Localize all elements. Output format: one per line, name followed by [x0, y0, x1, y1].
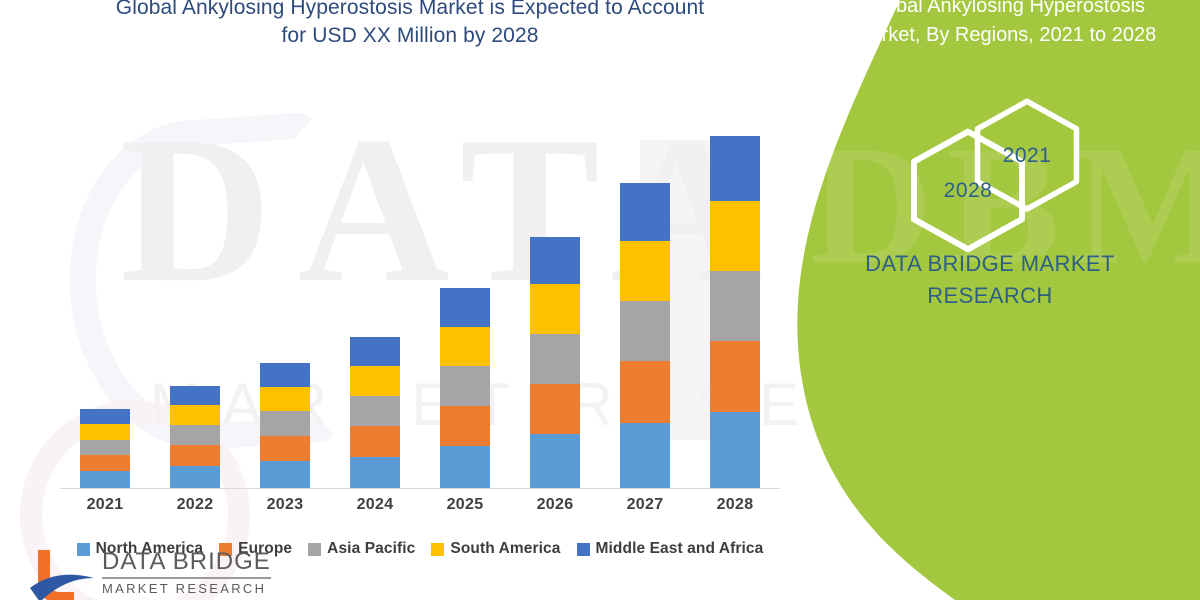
bar-segment[interactable] [170, 425, 220, 445]
legend-label: South America [450, 540, 560, 558]
hexagon-2021-label: 2021 [1003, 144, 1052, 168]
bar-segment[interactable] [260, 411, 310, 436]
bar-segment[interactable] [620, 241, 670, 301]
bar-stack[interactable] [350, 337, 400, 488]
bar-segment[interactable] [260, 436, 310, 461]
infographic-root: DATA MARKET RESEARCH Global Ankylosing H… [0, 0, 1200, 600]
bar-segment[interactable] [170, 466, 220, 488]
legend-item-middle-east-and-africa[interactable]: Middle East and Africa [577, 540, 764, 558]
bar-segment[interactable] [440, 366, 490, 406]
bar-segment[interactable] [170, 405, 220, 425]
panel-title-line-2: Market, By Regions, 2021 to 2028 [854, 24, 1156, 46]
bar-group [60, 120, 780, 488]
x-axis-line [60, 488, 780, 489]
bar-segment[interactable] [170, 386, 220, 405]
panel-title: Global Ankylosing Hyperostosis Market, B… [820, 0, 1190, 50]
bar-segment[interactable] [440, 327, 490, 366]
bar-segment[interactable] [440, 406, 490, 446]
x-axis-labels: 20212022202320242025202620272028 [60, 496, 780, 514]
bar-segment[interactable] [530, 434, 580, 488]
bar-segment[interactable] [710, 136, 760, 201]
bar-segment[interactable] [620, 183, 670, 241]
chart-title-line-1: Global Ankylosing Hyperostosis Market is… [116, 0, 704, 19]
bar-segment[interactable] [440, 288, 490, 327]
bar-segment[interactable] [80, 424, 130, 440]
bar-slot-2024 [330, 120, 420, 488]
hexagon-2028-label: 2028 [944, 179, 993, 203]
bar-segment[interactable] [530, 284, 580, 334]
bar-segment[interactable] [350, 457, 400, 488]
bar-segment[interactable] [620, 361, 670, 423]
bar-slot-2023 [240, 120, 330, 488]
bar-stack[interactable] [80, 409, 130, 488]
plot-area [60, 120, 780, 488]
chart-panel: Global Ankylosing Hyperostosis Market is… [0, 0, 860, 600]
brand-name: DATA BRIDGE MARKET RESEARCH [800, 248, 1180, 312]
bar-stack[interactable] [530, 237, 580, 488]
bar-segment[interactable] [170, 445, 220, 466]
bar-segment[interactable] [710, 201, 760, 271]
bar-segment[interactable] [80, 455, 130, 471]
x-axis-label-2028: 2028 [690, 496, 780, 514]
bar-slot-2028 [690, 120, 780, 488]
chart-title: Global Ankylosing Hyperostosis Market is… [40, 0, 780, 51]
bar-segment[interactable] [80, 471, 130, 488]
x-axis-label-2027: 2027 [600, 496, 690, 514]
data-bridge-logo-icon [30, 548, 96, 600]
bar-segment[interactable] [350, 396, 400, 426]
bar-segment[interactable] [620, 423, 670, 488]
bar-segment[interactable] [530, 237, 580, 284]
bar-slot-2027 [600, 120, 690, 488]
legend-item-south-america[interactable]: South America [431, 540, 560, 558]
legend-swatch-icon [431, 543, 444, 556]
bar-slot-2021 [60, 120, 150, 488]
bar-segment[interactable] [80, 409, 130, 424]
bar-slot-2022 [150, 120, 240, 488]
bar-segment[interactable] [710, 341, 760, 412]
bar-segment[interactable] [260, 461, 310, 488]
brand-side-panel: DBMR Global Ankylosing Hyperostosis Mark… [780, 0, 1200, 600]
x-axis-label-2026: 2026 [510, 496, 600, 514]
legend-label: Middle East and Africa [596, 540, 764, 558]
chart-title-line-2: for USD XX Million by 2028 [281, 24, 538, 47]
logo-line-2: MARKET RESEARCH [102, 581, 271, 596]
bar-stack[interactable] [260, 363, 310, 488]
x-axis-label-2025: 2025 [420, 496, 510, 514]
x-axis-label-2024: 2024 [330, 496, 420, 514]
logo-text: DATA BRIDGE MARKET RESEARCH [102, 548, 271, 596]
bar-segment[interactable] [440, 446, 490, 488]
bar-segment[interactable] [710, 412, 760, 488]
bar-slot-2025 [420, 120, 510, 488]
brand-name-line-1: DATA BRIDGE MARKET [865, 251, 1115, 276]
bar-segment[interactable] [620, 301, 670, 361]
panel-title-line-1: Global Ankylosing Hyperostosis [865, 0, 1145, 17]
green-panel-content: Global Ankylosing Hyperostosis Market, B… [780, 0, 1200, 600]
company-logo: DATA BRIDGE MARKET RESEARCH [30, 548, 380, 600]
bar-stack[interactable] [620, 183, 670, 488]
x-axis-label-2022: 2022 [150, 496, 240, 514]
brand-name-line-2: RESEARCH [927, 283, 1052, 308]
legend-swatch-icon [577, 543, 590, 556]
bar-slot-2026 [510, 120, 600, 488]
bar-segment[interactable] [260, 363, 310, 387]
bar-segment[interactable] [80, 440, 130, 455]
x-axis-label-2021: 2021 [60, 496, 150, 514]
bar-stack[interactable] [170, 386, 220, 488]
bar-segment[interactable] [350, 366, 400, 396]
logo-line-1: DATA BRIDGE [102, 548, 271, 579]
bar-segment[interactable] [710, 271, 760, 341]
x-axis-label-2023: 2023 [240, 496, 330, 514]
bar-segment[interactable] [530, 334, 580, 384]
bar-segment[interactable] [260, 387, 310, 411]
bar-segment[interactable] [350, 337, 400, 366]
bar-stack[interactable] [710, 136, 760, 488]
bar-segment[interactable] [530, 384, 580, 434]
bar-segment[interactable] [350, 426, 400, 457]
bar-stack[interactable] [440, 288, 490, 488]
